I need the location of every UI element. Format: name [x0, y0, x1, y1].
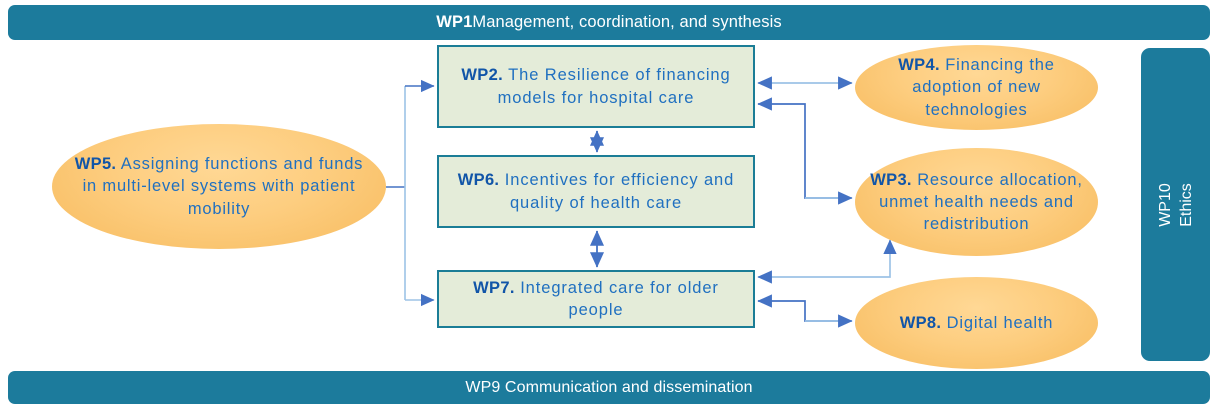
node-wp6-code: WP6.: [458, 171, 500, 189]
banner-wp1-text: Management, coordination, and synthesis: [472, 13, 781, 32]
node-wp2-text: The Resilience of financing models for h…: [498, 66, 731, 106]
node-wp5-code: WP5.: [75, 155, 117, 173]
node-wp7-code: WP7.: [473, 279, 515, 297]
link-wp7-wp8: [758, 301, 852, 321]
node-wp3-label: WP3. Resource allocation, unmet health n…: [869, 169, 1084, 235]
wp10-ethics-label: WP10 Ethics: [1154, 183, 1196, 227]
banner-wp10-ethics: WP10 Ethics: [1141, 48, 1210, 361]
node-wp8-text: Digital health: [941, 314, 1053, 332]
node-wp4-label: WP4. Financing the adoption of new techn…: [869, 54, 1084, 120]
node-wp5-assigning-functions[interactable]: WP5. Assigning functions and funds in mu…: [52, 124, 386, 249]
node-wp8-code: WP8.: [900, 314, 942, 332]
node-wp5-text: Assigning functions and funds in multi-l…: [83, 155, 364, 217]
node-wp2-label: WP2. The Resilience of financing models …: [447, 64, 745, 109]
wp10-text: Ethics: [1176, 183, 1197, 227]
node-wp6-label: WP6. Incentives for efficiency and quali…: [447, 169, 745, 214]
node-wp2-resilience[interactable]: WP2. The Resilience of financing models …: [437, 45, 755, 128]
node-wp4-financing-adoption[interactable]: WP4. Financing the adoption of new techn…: [855, 45, 1098, 130]
node-wp4-code: WP4.: [898, 56, 940, 74]
banner-wp9-text: WP9 Communication and dissemination: [465, 379, 752, 397]
link-wp5-to-wp2-wp7: [386, 86, 434, 300]
node-wp5-label: WP5. Assigning functions and funds in mu…: [66, 153, 372, 219]
node-wp7-text: Integrated care for older people: [515, 279, 719, 319]
node-wp6-incentives[interactable]: WP6. Incentives for efficiency and quali…: [437, 155, 755, 228]
node-wp3-code: WP3.: [870, 171, 912, 189]
node-wp8-digital-health[interactable]: WP8. Digital health: [855, 277, 1098, 369]
node-wp7-integrated-care[interactable]: WP7. Integrated care for older people: [437, 270, 755, 328]
banner-wp1-management: WP1 Management, coordination, and synthe…: [8, 5, 1210, 40]
node-wp6-text: Incentives for efficiency and quality of…: [499, 171, 734, 211]
node-wp8-label: WP8. Digital health: [900, 312, 1054, 334]
node-wp2-code: WP2.: [461, 66, 503, 84]
work-package-diagram: WP1 Management, coordination, and synthe…: [0, 0, 1219, 409]
banner-wp9-communication: WP9 Communication and dissemination: [8, 371, 1210, 404]
banner-wp1-code: WP1: [436, 13, 472, 32]
node-wp3-resource-allocation[interactable]: WP3. Resource allocation, unmet health n…: [855, 148, 1098, 256]
link-wp2-wp3: [758, 104, 852, 198]
wp10-code: WP10: [1154, 183, 1175, 227]
link-wp7-wp3: [758, 240, 890, 277]
node-wp7-label: WP7. Integrated care for older people: [447, 277, 745, 322]
